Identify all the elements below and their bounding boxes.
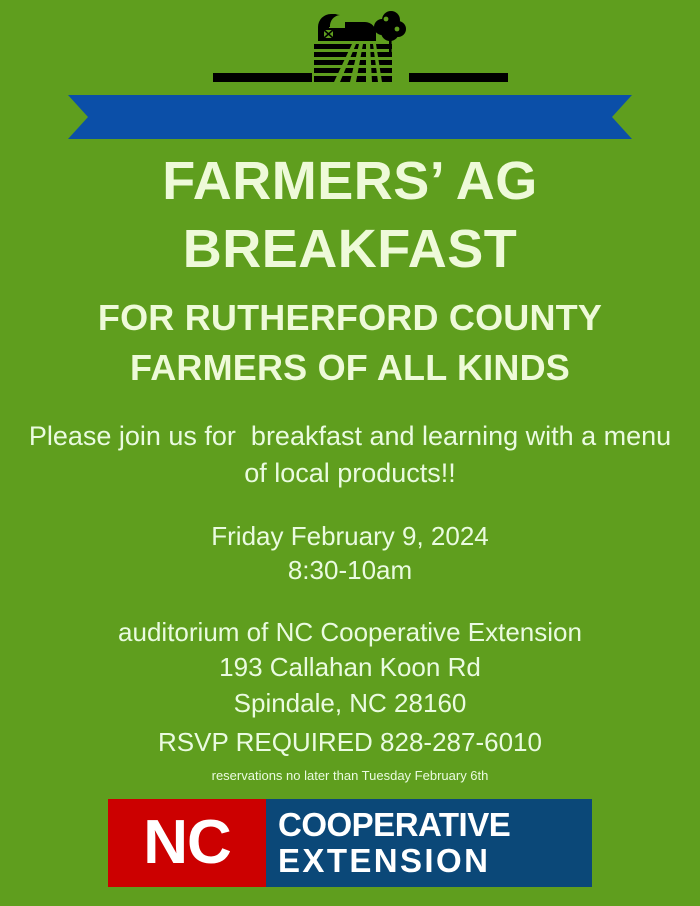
- flyer-content: FARMERS’ AG BREAKFAST FOR RUTHERFORD COU…: [0, 139, 700, 785]
- event-date: Friday February 9, 2024: [0, 519, 700, 553]
- rsvp-deadline-note: reservations no later than Tuesday Febru…: [0, 767, 700, 785]
- venue-street: 193 Callahan Koon Rd: [0, 650, 700, 685]
- blue-ribbon-banner: [68, 95, 632, 139]
- farm-barn-silo-tree-field-icon: [312, 8, 412, 84]
- page-title: FARMERS’ AG BREAKFAST: [0, 139, 700, 283]
- venue-name: auditorium of NC Cooperative Extension: [0, 615, 700, 650]
- venue-city-state-zip: Spindale, NC 28160: [0, 686, 700, 721]
- subtitle-line-1: FOR RUTHERFORD COUNTY: [0, 293, 700, 343]
- header-artwork: [0, 0, 700, 92]
- decorative-rule-right: [409, 73, 508, 82]
- logo-nc-text: NC: [143, 812, 231, 874]
- logo-nc-block: NC: [108, 799, 266, 887]
- title-line-1: FARMERS’ AG: [0, 147, 700, 215]
- event-time: 8:30-10am: [0, 553, 700, 587]
- event-datetime: Friday February 9, 2024 8:30-10am: [0, 519, 700, 588]
- logo-extension-block: COOPERATIVE EXTENSION: [266, 799, 592, 887]
- event-venue: auditorium of NC Cooperative Extension 1…: [0, 615, 700, 720]
- invitation-text: Please join us for breakfast and learnin…: [0, 418, 700, 490]
- logo-cooperative-text: COOPERATIVE: [278, 807, 510, 843]
- rsvp-phone: RSVP REQUIRED 828-287-6010: [0, 725, 700, 760]
- decorative-rule-left: [213, 73, 312, 82]
- page-subtitle: FOR RUTHERFORD COUNTY FARMERS OF ALL KIN…: [0, 293, 700, 392]
- title-line-2: BREAKFAST: [0, 215, 700, 283]
- flyer-page: FARMERS’ AG BREAKFAST FOR RUTHERFORD COU…: [0, 0, 700, 906]
- subtitle-line-2: FARMERS OF ALL KINDS: [0, 343, 700, 393]
- logo-extension-text: EXTENSION: [278, 843, 490, 879]
- nc-cooperative-extension-logo: NC COOPERATIVE EXTENSION: [108, 799, 592, 887]
